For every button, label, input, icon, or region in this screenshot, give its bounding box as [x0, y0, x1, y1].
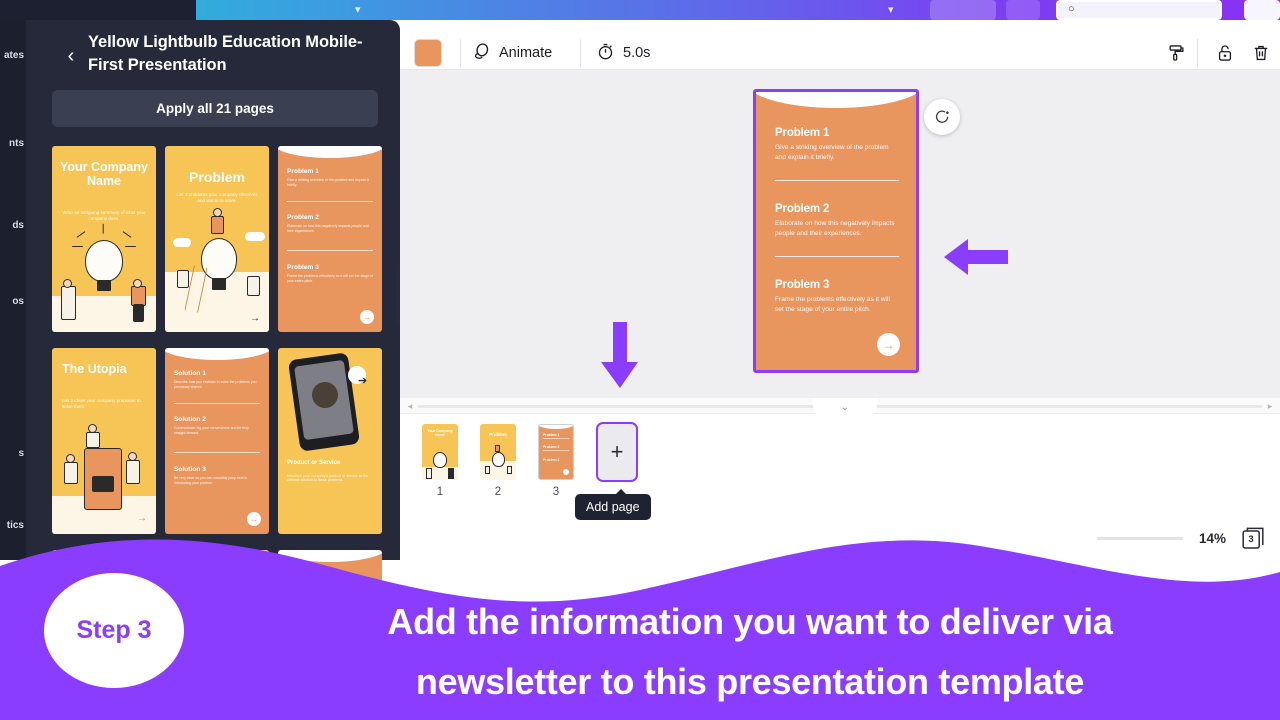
- next-arrow-icon: [563, 469, 569, 475]
- divider: [174, 452, 260, 453]
- page-title: Yellow Lightbulb Education Mobile-First …: [88, 31, 378, 77]
- lock-icon[interactable]: [1209, 37, 1241, 69]
- sidebar-item-label: nts: [9, 138, 24, 149]
- divider: [287, 201, 373, 202]
- template-card-title: The Utopia: [62, 362, 148, 376]
- ray-icon: [102, 224, 103, 234]
- slide-heading: Problem 3: [775, 279, 829, 291]
- wave-decoration: [756, 92, 916, 108]
- top-bar-button-3[interactable]: [1244, 0, 1280, 20]
- template-card-body: Describe how you envision to solve the p…: [174, 380, 260, 389]
- lightbulb-icon: [85, 240, 123, 282]
- slide-artboard[interactable]: Problem 1 Give a striking overview of th…: [756, 92, 916, 370]
- person-head: [66, 454, 75, 463]
- person-figure: [126, 460, 140, 484]
- wave-decoration: [278, 146, 382, 158]
- template-card[interactable]: The Utopia List 3 ideas your company pro…: [52, 348, 156, 534]
- page-thumbnail[interactable]: Problem: [480, 424, 516, 480]
- template-card-heading: Solution 1: [174, 370, 206, 377]
- template-card-subtitle: Introduce your company's product or serv…: [287, 474, 372, 483]
- page-number: 1: [422, 486, 458, 498]
- ray-icon: [77, 231, 86, 238]
- add-page-tooltip: Add page: [575, 494, 651, 520]
- page-number: 2: [480, 486, 516, 498]
- animate-icon: [472, 42, 491, 65]
- chevron-down-icon[interactable]: ▾: [888, 3, 894, 16]
- template-card[interactable]: Problem List 3 problems your company obs…: [165, 146, 269, 332]
- divider: [543, 438, 569, 439]
- animate-button[interactable]: Animate: [472, 38, 552, 68]
- ray-icon: [125, 246, 136, 247]
- duration-label: 5.0s: [623, 45, 650, 61]
- trash-icon[interactable]: [1245, 37, 1277, 69]
- person-figure: [448, 468, 454, 479]
- person-figure: [495, 445, 500, 452]
- template-card-heading: Solution 2: [174, 416, 206, 423]
- template-row: The Utopia List 3 ideas your company pro…: [52, 348, 382, 540]
- page-thumb-title: Problem: [483, 432, 513, 437]
- page-thumb-heading: Problem 1: [543, 433, 559, 437]
- template-card-body: Communicate big your convenience and be …: [174, 426, 260, 435]
- template-card-title: Product or Service: [287, 460, 374, 467]
- sidebar-item-label: ates: [4, 50, 24, 61]
- back-button[interactable]: ‹: [58, 43, 84, 69]
- ray-icon: [72, 246, 83, 247]
- template-card[interactable]: Solution 1 Describe how you envision to …: [165, 348, 269, 534]
- person-head: [133, 279, 142, 288]
- template-panel-header: ‹ Yellow Lightbulb Education Mobile-Firs…: [26, 20, 400, 92]
- template-card[interactable]: Problem 1 Give a striking overview of th…: [278, 146, 382, 332]
- sidebar-item-label: os: [12, 296, 24, 307]
- template-card-heading: Problem 3: [287, 264, 319, 271]
- toolbar-divider: [1197, 39, 1198, 67]
- lightbulb-icon: [492, 452, 505, 467]
- template-card-subtitle: List 3 ideas your company proposes to so…: [62, 398, 146, 409]
- template-side-panel: ‹ Yellow Lightbulb Education Mobile-Firs…: [26, 20, 400, 560]
- person-figure: [485, 466, 490, 474]
- template-row: Your Company Name Write an intriguing su…: [52, 146, 382, 338]
- left-nav-rail: ates nts ds os s tics: [0, 20, 26, 560]
- template-card-title: Problem: [173, 170, 261, 186]
- add-page-button[interactable]: +: [596, 422, 638, 482]
- slide-body: Frame the problems effectively as it wil…: [775, 295, 899, 315]
- template-card-heading: Solution 3: [174, 466, 206, 473]
- template-card-body: Be very clear so you can smoothly jump n…: [174, 476, 260, 485]
- scroll-left-arrow-icon[interactable]: ◂: [402, 398, 418, 414]
- person-head: [213, 208, 222, 217]
- search-icon: ○: [1068, 3, 1075, 15]
- scroll-right-arrow-icon[interactable]: ▸: [1262, 398, 1278, 414]
- wave-decoration: [165, 348, 269, 360]
- top-bar-button-1[interactable]: [930, 0, 996, 20]
- template-card-heading: Problem 1: [287, 168, 319, 175]
- divider: [775, 256, 899, 257]
- sidebar-item-elements[interactable]: nts: [0, 138, 26, 149]
- person-head: [63, 279, 72, 288]
- wave-decoration: [538, 424, 574, 429]
- screen-illustration: [92, 476, 114, 492]
- divider: [174, 403, 260, 404]
- app-top-bar: ▾ ▾ ○: [0, 0, 1280, 20]
- template-card-body: Frame the problems effectively as it wil…: [287, 274, 373, 283]
- animate-label: Animate: [499, 45, 552, 61]
- person-head: [88, 424, 97, 433]
- ray-icon: [123, 231, 132, 238]
- person-figure: [177, 270, 189, 288]
- page-number: 3: [538, 486, 574, 498]
- arrow-right-icon: →: [250, 313, 260, 324]
- sidebar-item-label: ds: [12, 220, 24, 231]
- slide-body: Give a striking overview of the problem …: [775, 143, 899, 163]
- page-thumbnail[interactable]: Problem 1 Problem 2 Problem 3: [538, 424, 574, 480]
- color-swatch-button[interactable]: [414, 39, 442, 67]
- page-thumb-heading: Problem 3: [543, 458, 559, 462]
- banner-caption-line-2: newsletter to this presentation template: [250, 652, 1250, 712]
- template-card-subtitle: List 3 problems your company observes an…: [175, 192, 259, 203]
- template-card-body: Elaborate on how this negatively impacts…: [287, 224, 373, 233]
- template-card-title: Your Company Name: [60, 160, 148, 188]
- search-field[interactable]: [1056, 0, 1222, 20]
- person-figure: [507, 466, 512, 474]
- top-bar-dark-segment: [0, 0, 196, 20]
- next-arrow-icon: →: [877, 333, 900, 356]
- chevron-down-icon[interactable]: ▾: [355, 3, 361, 16]
- cursor-icon: ➔: [358, 374, 367, 387]
- template-card-body: Give a striking overview of the problem …: [287, 178, 373, 187]
- person-figure: [86, 432, 100, 448]
- person-figure: [426, 468, 432, 479]
- divider: [287, 250, 373, 251]
- template-card-subtitle: Write an intriguing summary of what your…: [62, 210, 146, 221]
- person-figure: [131, 286, 146, 306]
- slide-heading: Problem 1: [775, 127, 829, 139]
- person-figure: [64, 462, 78, 484]
- banner-caption: Add the information you want to deliver …: [250, 592, 1250, 712]
- divider: [543, 450, 569, 451]
- template-card[interactable]: Your Company Name Write an intriguing su…: [52, 146, 156, 332]
- timer-icon: [596, 42, 615, 65]
- page-thumb-heading: Problem 2: [543, 445, 559, 449]
- sidebar-item-templates[interactable]: ates: [0, 50, 26, 61]
- next-arrow-icon: →: [360, 310, 374, 324]
- template-card-heading: Problem 2: [287, 214, 319, 221]
- toolbar-divider: [580, 39, 581, 67]
- person-legs: [133, 304, 144, 322]
- template-card[interactable]: ➔ Product or Service Introduce your comp…: [278, 348, 382, 534]
- slide-heading: Problem 2: [775, 203, 829, 215]
- lightbulb-base: [212, 278, 226, 290]
- top-bar-button-2[interactable]: [1006, 0, 1040, 20]
- toolbar-divider: [460, 39, 461, 67]
- banner-caption-line-1: Add the information you want to deliver …: [250, 592, 1250, 652]
- person-figure: [247, 276, 260, 296]
- lightbulb-base: [97, 280, 111, 291]
- rotate-icon[interactable]: [924, 99, 960, 135]
- person-figure: [211, 216, 224, 234]
- cloud-icon: [245, 232, 265, 241]
- duration-button[interactable]: 5.0s: [596, 38, 650, 68]
- editor-toolbar: Animate 5.0s: [400, 20, 1280, 70]
- sidebar-item-photos[interactable]: os: [0, 296, 26, 307]
- person-figure: [61, 286, 76, 320]
- page-thumb-title: Your Company Name: [425, 429, 455, 438]
- lightbulb-icon: [433, 452, 447, 468]
- page-thumbnail[interactable]: Your Company Name: [422, 424, 458, 480]
- canva-editor-screen: ▾ ▾ ○ ates nts ds os s tics ‹ Yellow Lig…: [0, 0, 1280, 720]
- slide-body: Elaborate on how this negatively impacts…: [775, 219, 899, 239]
- step-badge: Step 3: [44, 573, 184, 688]
- sidebar-item-uploads[interactable]: ds: [0, 220, 26, 231]
- paint-roller-icon[interactable]: [1160, 37, 1192, 69]
- template-grid: Your Company Name Write an intriguing su…: [52, 146, 404, 580]
- sidebar-item-label: s: [18, 448, 24, 459]
- divider: [775, 180, 899, 181]
- person-head: [128, 452, 137, 461]
- sidebar-item-draw[interactable]: s: [0, 448, 26, 459]
- cloud-icon: [173, 238, 191, 247]
- apply-all-pages-button[interactable]: Apply all 21 pages: [52, 90, 378, 127]
- design-canvas[interactable]: Problem 1 Give a striking overview of th…: [400, 70, 1280, 400]
